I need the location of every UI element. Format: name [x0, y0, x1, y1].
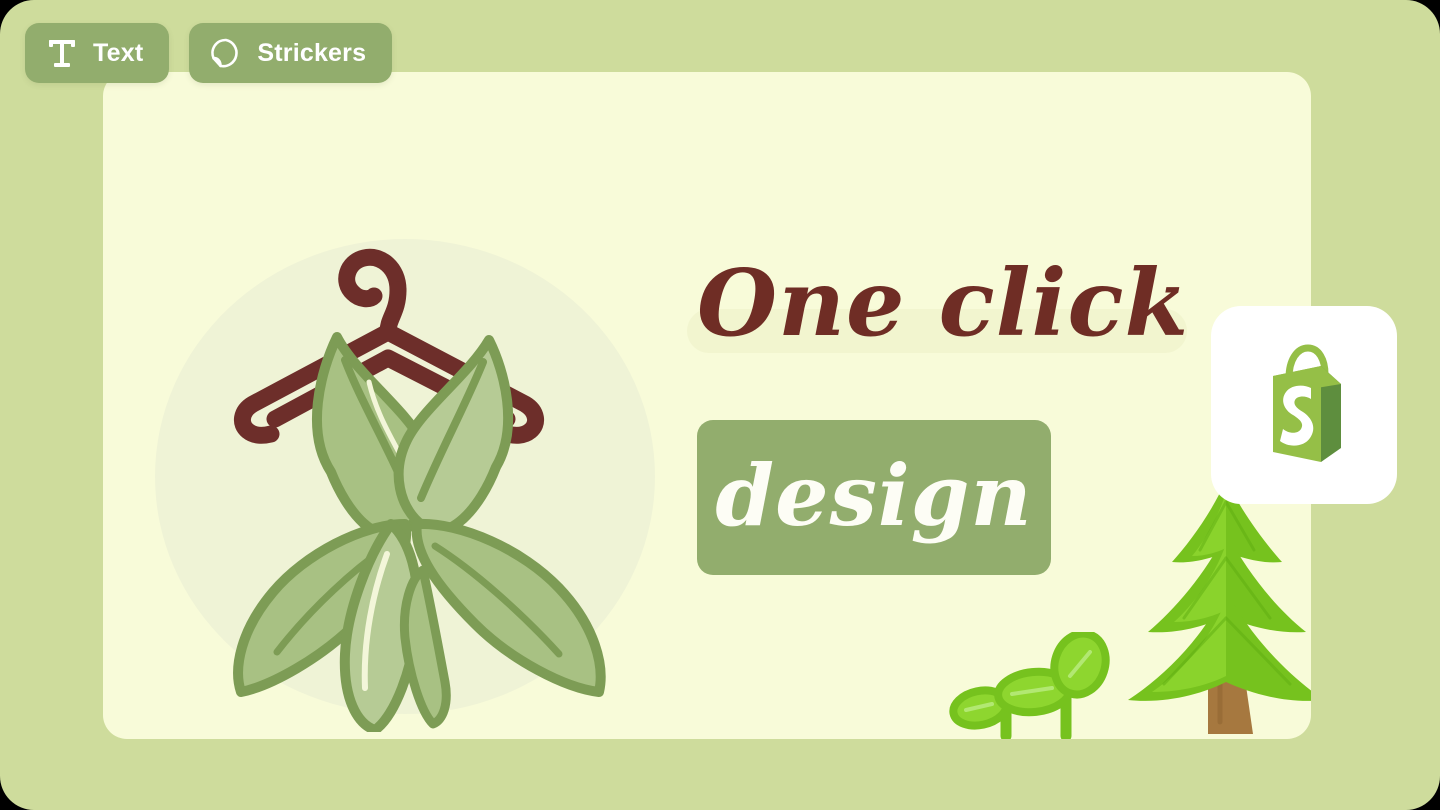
shopify-app-card[interactable]	[1211, 306, 1397, 504]
headline-one-click[interactable]: One click	[697, 257, 1189, 349]
design-text-chip[interactable]: design	[697, 420, 1051, 575]
sticker-icon	[209, 36, 243, 70]
text-tool-label: Text	[93, 39, 143, 68]
outer-board: One click design	[0, 0, 1440, 810]
headline-text: One click	[697, 257, 1189, 349]
design-chip-label: design	[715, 454, 1032, 538]
screenshot-stage: One click design	[0, 0, 1440, 810]
stickers-tool-label: Strickers	[257, 39, 366, 68]
text-tool-button[interactable]: Text	[25, 23, 169, 83]
sprout-plant-icon	[948, 632, 1113, 739]
editor-toolbar: Text Strickers	[25, 23, 392, 83]
shopify-logo-icon	[1245, 340, 1363, 470]
text-format-icon	[45, 36, 79, 70]
pine-tree-icon	[1108, 472, 1311, 739]
design-canvas[interactable]: One click design	[103, 72, 1311, 739]
stickers-tool-button[interactable]: Strickers	[189, 23, 392, 83]
leaf-dress-on-hanger-icon	[155, 172, 675, 732]
